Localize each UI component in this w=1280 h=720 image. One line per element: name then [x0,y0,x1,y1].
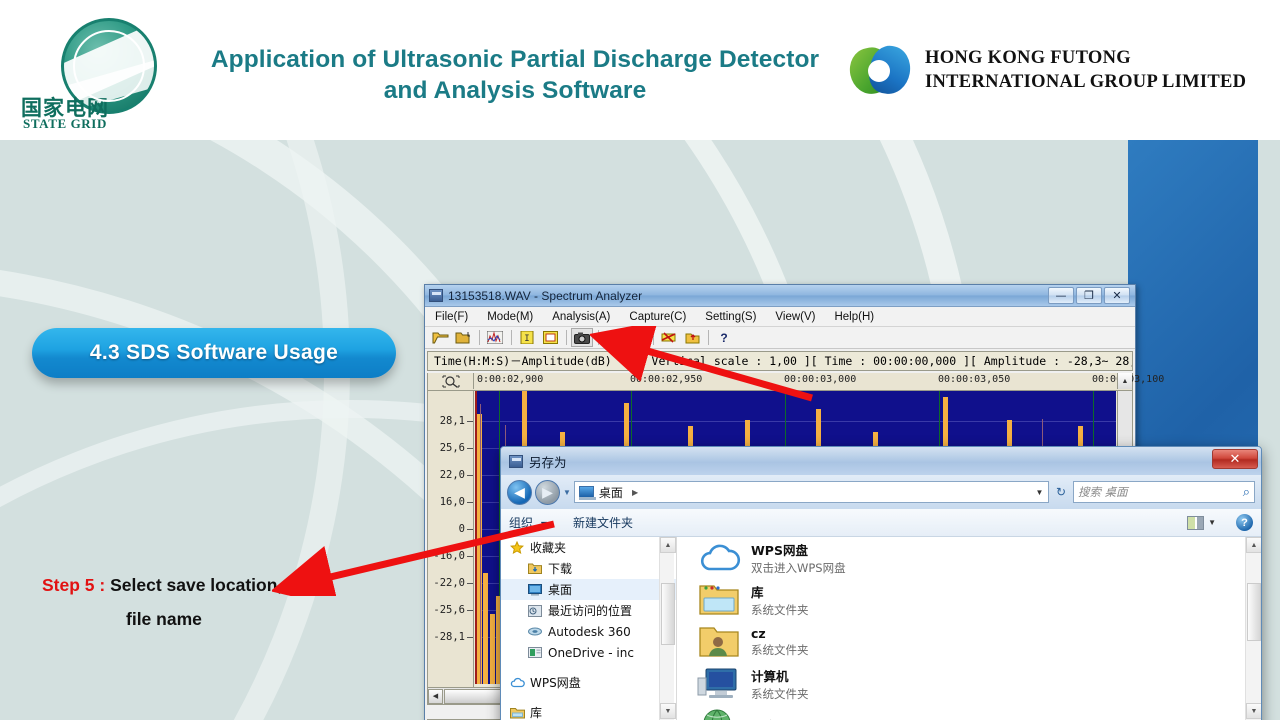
chevron-down-icon: ▼ [541,520,547,529]
menu-file[interactable]: File(F) [435,311,468,323]
search-placeholder: 搜索 桌面 [1078,484,1243,500]
library-icon [509,706,525,720]
export-icon[interactable] [681,328,703,347]
list-item[interactable]: 计算机 系统文件夹 [677,663,1245,705]
file-sub: 系统文件夹 [751,642,809,658]
file-sub: 系统文件夹 [751,686,809,702]
list-item[interactable]: WPS网盘 双击进入WPS网盘 [677,537,1245,579]
nav-item-label: 库 [530,704,542,720]
file-name: 网络 [751,716,776,720]
address-bar[interactable]: 桌面 ▶ ▼ [574,481,1049,503]
menu-mode[interactable]: Mode(M) [487,311,533,323]
desktop-icon [527,583,543,597]
list-item-text: 计算机 系统文件夹 [751,666,809,702]
file-name: cz [751,626,809,641]
help-icon[interactable]: ? [713,328,735,347]
step-text-1: Select save location, edit [110,575,318,595]
back-icon[interactable]: ◀ [507,480,532,505]
section-title-pill: 4.3 SDS Software Usage [32,328,396,378]
file-name: 库 [751,582,809,601]
list-item[interactable]: 库 系统文件夹 [677,579,1245,621]
nav-pane-scrollbar[interactable]: ▲ ▼ [659,537,674,720]
amp-tick-2: 22,0 [440,469,465,481]
scroll-left-button[interactable]: ◀ [428,689,443,704]
list-item-text: 库 系统文件夹 [751,582,809,618]
desktop-icon [579,486,594,498]
time-tick-2: 00:00:03,000 [784,374,856,385]
user-folder-icon [697,623,741,661]
help-icon[interactable]: ? [1236,514,1253,531]
window-icon[interactable] [539,328,561,347]
step-line-1: Step 5 : Select save location, edit [42,568,422,602]
open-folder-icon[interactable] [429,328,451,347]
downloads-icon [527,562,543,576]
forward-icon[interactable]: ▶ [535,480,560,505]
analyzer-menubar[interactable]: File(F) Mode(M) Analysis(A) Capture(C) S… [425,307,1135,327]
history-chevron-icon[interactable]: ▼ [563,488,571,497]
svg-text:I: I [524,334,529,344]
list-scroll-thumb[interactable] [1247,583,1261,641]
search-icon[interactable]: ⌕ [1243,484,1250,500]
breadcrumb[interactable]: 桌面 [599,484,623,501]
address-dropdown-icon[interactable]: ▼ [1031,482,1048,502]
nav-item-label: 收藏夹 [530,539,566,556]
save-folder-icon[interactable] [452,328,474,347]
state-grid-inner-arc [73,30,145,102]
nav-item-label: Autodesk 360 [548,625,631,639]
nav-item-onedrive[interactable]: OneDrive - inc [501,642,676,663]
waveform-spike [480,404,481,684]
dialog-titlebar[interactable]: 另存为 ✕ [501,447,1261,475]
nav-scroll-up-button[interactable]: ▲ [660,537,676,553]
amp-tick-1: 25,6 [440,442,465,454]
time-tick-1: 00:00:02,950 [630,374,702,385]
recent-icon [527,604,543,618]
dialog-navigation-pane[interactable]: 收藏夹 下载 桌面 最近访问的位置 [501,537,677,720]
amp-tick-4: 0 [459,523,465,535]
file-name: WPS网盘 [751,540,846,559]
waveform-bar [490,614,495,684]
dialog-navigation-bar[interactable]: ◀ ▶ ▼ 桌面 ▶ ▼ ↻ 搜索 桌面 ⌕ [501,475,1261,509]
new-folder-button[interactable]: 新建文件夹 [573,514,633,531]
company-name-line1: HONG KONG FUTONG [925,46,1270,70]
time-tick-0: 0:00:02,900 [477,374,543,385]
nav-scroll-down-button[interactable]: ▼ [660,703,676,719]
menu-view[interactable]: View(V) [775,311,815,323]
amp-tick-6: -22,0 [433,577,465,589]
file-list-scrollbar[interactable]: ▲ ▼ [1245,537,1261,720]
info-readout: [ Vertical scale : 1,00 ][ Time : 00:00:… [612,354,1133,368]
maximize-button[interactable]: ❐ [1076,287,1102,304]
nav-item-label: OneDrive - inc [548,646,634,660]
analyzer-toolbar[interactable]: I ? [425,327,1135,349]
marker-icon[interactable] [658,328,680,347]
file-sub: 系统文件夹 [751,602,809,618]
file-sub: 双击进入WPS网盘 [751,560,846,576]
cloud-icon [509,676,525,690]
analyzer-app-icon [429,289,443,302]
capture-stop-icon[interactable] [626,328,648,347]
analyzer-window-controls[interactable]: — ❐ ✕ [1048,287,1132,304]
dialog-app-icon [509,455,523,468]
page-title: Application of Ultrasonic Partial Discha… [190,44,840,106]
step-text-2: file name [126,602,422,636]
amp-tick-3: 16,0 [440,496,465,508]
nav-scroll-thumb[interactable] [661,583,675,645]
list-scroll-up-button[interactable]: ▲ [1246,537,1262,553]
view-mode-icon[interactable] [1187,516,1204,530]
time-tick-3: 00:00:03,050 [938,374,1010,385]
nav-item-desktop[interactable]: 桌面 [501,579,676,600]
amp-tick-5: -16,0 [433,550,465,562]
nav-item-recent[interactable]: 最近访问的位置 [501,600,676,621]
nav-item-autodesk[interactable]: Autodesk 360 [501,621,676,642]
camera-icon[interactable] [571,328,593,347]
time-zoom-icon[interactable] [428,373,474,389]
amplitude-axis: 28,1 25,6 22,0 16,0 0 -16,0 -22,0 -25,6 … [428,391,474,703]
organize-label: 组织 [509,516,533,530]
star-icon [509,541,525,555]
nav-item-label: WPS网盘 [530,674,581,691]
toolbar-separator-5 [653,330,654,345]
autodesk-icon [527,625,543,639]
menu-setting[interactable]: Setting(S) [705,311,756,323]
file-list[interactable]: WPS网盘 双击进入WPS网盘 库 系统文件夹 cz 系 [677,537,1245,720]
state-grid-name-en: STATE GRID [0,116,130,132]
nav-item-favorites[interactable]: 收藏夹 [501,537,676,558]
file-name: 计算机 [751,666,809,685]
menu-help[interactable]: Help(H) [834,311,874,323]
dialog-toolbar[interactable]: 组织 ▼ 新建文件夹 ▼ ? [501,509,1261,537]
cloud-icon [697,539,741,577]
spectrum-icon[interactable] [484,328,506,347]
waveform-bar [483,573,488,684]
nav-item-label: 最近访问的位置 [548,602,632,619]
nav-item-downloads[interactable]: 下载 [501,558,676,579]
capture-start-icon[interactable] [603,328,625,347]
gridline [477,421,1116,422]
slide-header: 国家电网 STATE GRID Application of Ultrasoni… [0,0,1280,140]
organize-button[interactable]: 组织 ▼ [509,514,547,531]
breadcrumb-separator-icon[interactable]: ▶ [632,488,638,497]
list-item-text: cz 系统文件夹 [751,626,809,658]
menu-analysis[interactable]: Analysis(A) [552,311,610,323]
amp-tick-7: -25,6 [433,604,465,616]
search-input[interactable]: 搜索 桌面 ⌕ [1073,481,1255,503]
toolbar-separator-2 [511,330,512,345]
network-icon [697,707,741,720]
toolbar-separator-4 [598,330,599,345]
analyzer-time-ruler: 0:00:02,900 00:00:02,950 00:00:03,000 00… [427,373,1133,391]
nav-item-label: 桌面 [548,581,572,598]
refresh-icon[interactable]: ↻ [1049,481,1073,503]
computer-icon [697,665,741,703]
info-axis-label: Time(H:M:S)－Amplitude(dB) [428,353,612,369]
save-as-dialog[interactable]: 另存为 ✕ ◀ ▶ ▼ 桌面 ▶ ▼ ↻ 搜索 桌面 ⌕ 组织 ▼ [500,446,1262,720]
list-item[interactable]: cz 系统文件夹 [677,621,1245,663]
nav-item-wps-cloud[interactable]: WPS网盘 [501,672,676,693]
analyzer-window-title: 13153518.WAV - Spectrum Analyzer [448,289,642,303]
futong-logo-icon [850,44,912,100]
toolbar-separator-3 [566,330,567,345]
toolbar-separator-6 [708,330,709,345]
list-item-text: WPS网盘 双击进入WPS网盘 [751,540,846,576]
amp-tick-8: -28,1 [433,631,465,643]
toolbar-separator-1 [479,330,480,345]
analyzer-info-bar: Time(H:M:S)－Amplitude(dB) [ Vertical sca… [427,351,1133,371]
list-item-text: 网络 [751,716,776,720]
dialog-title: 另存为 [529,452,567,471]
futong-logo-hole [868,60,890,82]
company-name-line2: INTERNATIONAL GROUP LIMITED [925,70,1270,94]
step-instruction: Step 5 : Select save location, edit file… [42,568,422,636]
step-keyword: Step 5 : [42,575,105,595]
library-folder-icon [697,581,741,619]
company-name: HONG KONG FUTONG INTERNATIONAL GROUP LIM… [925,46,1270,94]
time-tick-labels: 0:00:02,900 00:00:02,950 00:00:03,000 00… [475,373,1116,389]
onedrive-icon [527,646,543,660]
analyzer-titlebar[interactable]: 13153518.WAV - Spectrum Analyzer — ❐ ✕ [425,285,1135,307]
amp-tick-0: 28,1 [440,415,465,427]
nav-item-library[interactable]: 库 [501,702,676,720]
minimize-button[interactable]: — [1048,287,1074,304]
nav-item-label: 下载 [548,560,572,577]
slide-body: 4.3 SDS Software Usage Step 5 : Select s… [0,140,1280,720]
close-button[interactable]: ✕ [1104,287,1130,304]
ruler-scroll-up-button[interactable]: ▲ [1117,373,1132,389]
menu-capture[interactable]: Capture(C) [629,311,686,323]
scale-icon[interactable]: I [516,328,538,347]
list-scroll-down-button[interactable]: ▼ [1246,703,1262,719]
list-item[interactable]: 网络 [677,705,1245,720]
dialog-close-button[interactable]: ✕ [1212,449,1258,469]
view-dropdown-icon[interactable]: ▼ [1208,518,1216,527]
